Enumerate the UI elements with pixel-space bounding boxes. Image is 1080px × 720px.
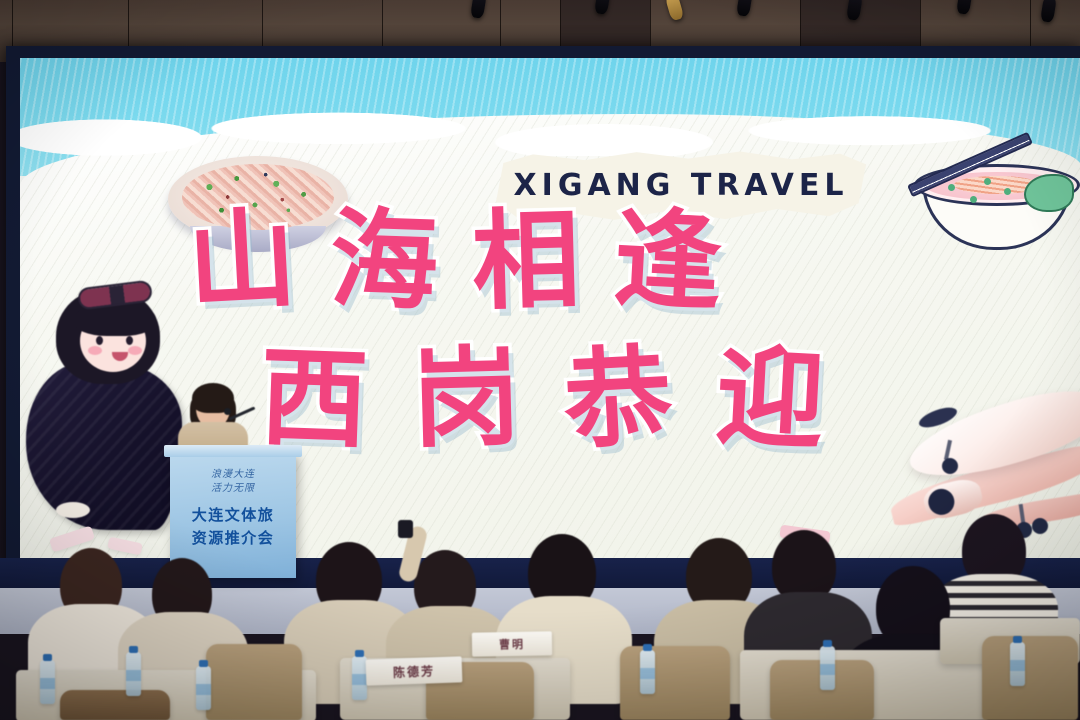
stage-spotlight-icon [956, 0, 973, 15]
water-bottle [820, 646, 835, 690]
name-card: 陈德芳 [366, 656, 463, 685]
stage-spotlight-icon [470, 0, 487, 19]
microphone-icon [224, 408, 231, 415]
stage-spotlight-icon [1040, 0, 1057, 23]
audience-chair [206, 644, 302, 720]
name-card: 曹明 [472, 631, 552, 656]
podium-calligraphy-line2: 活力无限 [170, 482, 296, 496]
headline-char: 迎 [713, 343, 827, 457]
headline-char: 相 [471, 207, 582, 318]
headline-char: 逢 [611, 205, 725, 319]
headline-char: 恭 [561, 343, 675, 457]
water-bottle [640, 650, 655, 694]
headline-char: 海 [328, 206, 440, 318]
led-screen-frame: XIGANG TRAVEL 山 [6, 46, 1080, 566]
audience-chair [620, 646, 730, 720]
audience-chair [60, 690, 170, 720]
podium-calligraphy-line1: 浪漫大连 [170, 468, 296, 482]
podium-calligraphy: 浪漫大连 活力无限 [170, 468, 296, 496]
audience-chair [982, 636, 1078, 720]
conference-hall-photo: XIGANG TRAVEL 山 [0, 0, 1080, 720]
phone-icon [398, 520, 413, 538]
headline-char: 西 [258, 344, 370, 456]
audience-area: 陈德芳 曹明 王丽 [0, 500, 1080, 720]
water-bottle [196, 666, 211, 710]
stage-spotlight-icon [665, 0, 685, 21]
water-bottle [40, 660, 55, 704]
stage-spotlight-icon [736, 0, 753, 17]
water-bottle [126, 652, 141, 696]
water-bottle [1010, 642, 1025, 686]
headline-char: 岗 [411, 345, 522, 456]
headline-char: 山 [185, 205, 299, 319]
